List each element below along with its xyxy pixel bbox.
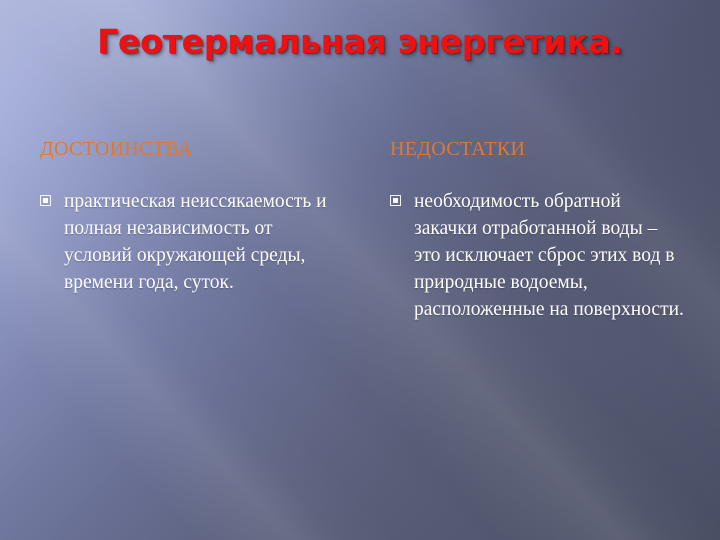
slide-title: Геотермальная энергетика. xyxy=(0,22,720,62)
list-item: практическая неиссякаемость и полная нез… xyxy=(40,188,360,296)
bullet-list-advantages: практическая неиссякаемость и полная нез… xyxy=(40,188,360,296)
column-advantages: ДОСТОИНСТВА практическая неиссякаемость … xyxy=(40,136,360,296)
column-disadvantages: НЕДОСТАТКИ необходимость обратной закачк… xyxy=(390,136,690,323)
bullet-text: практическая неиссякаемость и полная нез… xyxy=(64,188,342,296)
square-bullet-icon xyxy=(390,188,414,206)
bullet-list-disadvantages: необходимость обратной закачки отработан… xyxy=(390,188,690,323)
list-item: необходимость обратной закачки отработан… xyxy=(390,188,690,323)
slide-content: Геотермальная энергетика. ДОСТОИНСТВА пр… xyxy=(0,0,720,540)
presentation-slide: Геотермальная энергетика. ДОСТОИНСТВА пр… xyxy=(0,0,720,540)
column-heading-advantages: ДОСТОИНСТВА xyxy=(40,136,360,162)
bullet-text: необходимость обратной закачки отработан… xyxy=(414,188,686,323)
column-heading-disadvantages: НЕДОСТАТКИ xyxy=(390,136,690,162)
square-bullet-icon xyxy=(40,188,64,206)
